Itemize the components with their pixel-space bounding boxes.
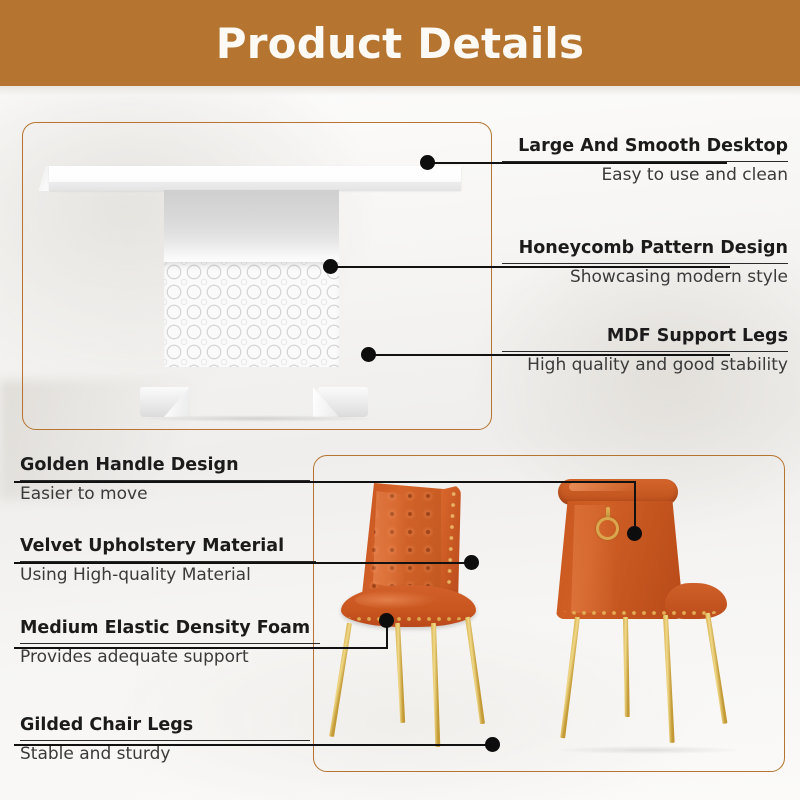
- feature-subtitle: Stable and sturdy: [20, 743, 310, 765]
- feature-divider: [502, 351, 788, 353]
- callout-dot-mdf-support-legs: [361, 347, 376, 362]
- feature-divider: [20, 480, 310, 482]
- callout-dot-medium-elastic-density-foam: [379, 613, 394, 628]
- feature-title: Golden Handle Design: [20, 455, 310, 477]
- page-title: Product Details: [216, 19, 584, 68]
- feature-subtitle: Easier to move: [20, 483, 310, 505]
- table-photo-frame: [22, 122, 492, 430]
- feature-medium-elastic-density-foam: Medium Elastic Density Foam Provides ade…: [20, 618, 320, 669]
- feature-golden-handle-design: Golden Handle Design Easier to move: [20, 455, 310, 506]
- header-banner: Product Details: [0, 0, 800, 86]
- feature-velvet-upholstery-material: Velvet Upholstery Material Using High-qu…: [20, 536, 316, 587]
- feature-gilded-chair-legs: Gilded Chair Legs Stable and sturdy: [20, 715, 310, 766]
- feature-subtitle: Provides adequate support: [20, 646, 320, 668]
- feature-title: MDF Support Legs: [502, 326, 788, 348]
- feature-title: Large And Smooth Desktop: [502, 136, 788, 158]
- feature-large-smooth-desktop: Large And Smooth Desktop Easy to use and…: [502, 136, 788, 187]
- feature-subtitle: Easy to use and clean: [502, 164, 788, 186]
- callout-dot-honeycomb-pattern-design: [323, 259, 338, 274]
- header-shadow: [0, 86, 800, 96]
- callout-dot-golden-handle-design: [627, 526, 642, 541]
- feature-title: Gilded Chair Legs: [20, 715, 310, 737]
- feature-mdf-support-legs: MDF Support Legs High quality and good s…: [502, 326, 788, 377]
- product-details-infographic: Product Details Large And Smooth Desktop…: [0, 0, 800, 800]
- feature-divider: [20, 561, 316, 563]
- feature-divider: [502, 161, 788, 163]
- feature-subtitle: Using High-quality Material: [20, 564, 316, 586]
- feature-divider: [20, 643, 320, 645]
- feature-subtitle: High quality and good stability: [502, 354, 788, 376]
- feature-title: Medium Elastic Density Foam: [20, 618, 320, 640]
- feature-divider: [502, 263, 788, 265]
- feature-divider: [20, 740, 310, 742]
- feature-honeycomb-pattern-design: Honeycomb Pattern Design Showcasing mode…: [502, 238, 788, 289]
- callout-dot-velvet-upholstery-material: [464, 555, 479, 570]
- feature-title: Honeycomb Pattern Design: [502, 238, 788, 260]
- feature-title: Velvet Upholstery Material: [20, 536, 316, 558]
- callout-dot-gilded-chair-legs: [485, 737, 500, 752]
- callout-dot-large-smooth-desktop: [420, 155, 435, 170]
- feature-subtitle: Showcasing modern style: [502, 266, 788, 288]
